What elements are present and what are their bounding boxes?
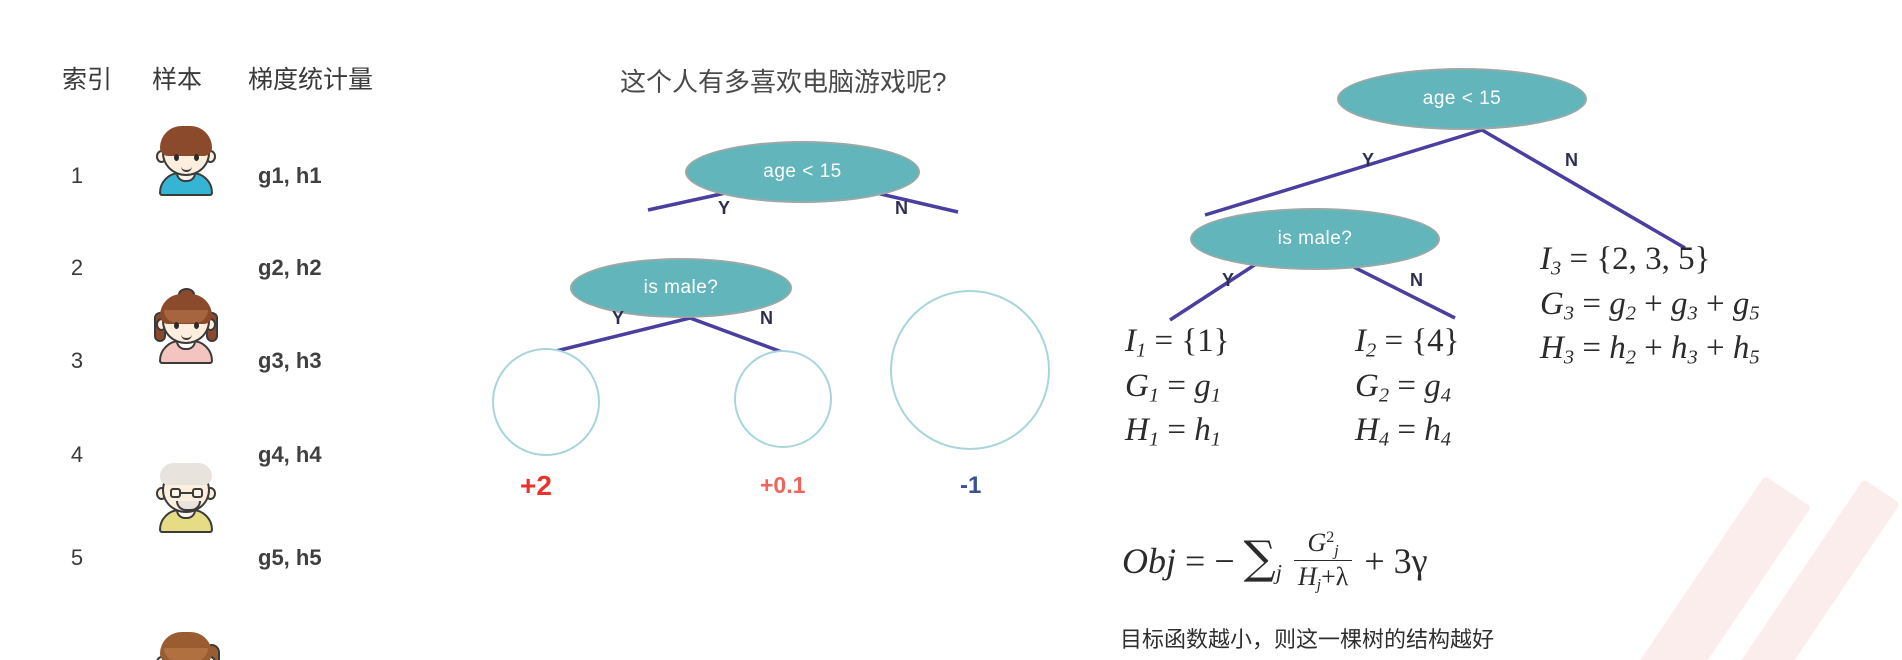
center-child-label: is male? xyxy=(644,277,719,299)
objective-numerator: G2j xyxy=(1294,528,1352,560)
formula-leaf3-I: I xyxy=(1540,241,1551,277)
formula-leaf3-I-sub: 3 xyxy=(1551,258,1561,280)
equals-sign: = xyxy=(1167,412,1186,448)
formula-leaf3-G-sub: 3 xyxy=(1564,302,1574,324)
table-header-stats: 梯度统计量 xyxy=(248,60,373,96)
formula-leaf3-H-sub: 3 xyxy=(1564,347,1574,369)
equals-sign: = xyxy=(1569,241,1588,277)
objective-num-sub: j xyxy=(1334,542,1338,559)
formula-leaf2-G: G xyxy=(1355,368,1379,404)
formula-leaf3-line3: H3 = h2 + h3 + h5 xyxy=(1540,327,1760,372)
formula-leaf1-line1: I1 = {1} xyxy=(1125,320,1230,365)
plus-sign: + xyxy=(1644,286,1663,322)
plus-sign: + xyxy=(1706,286,1725,322)
avatar-girl-braids-icon xyxy=(150,288,222,364)
center-tree-title: 这个人有多喜欢电脑游戏呢? xyxy=(620,62,946,99)
equals-sign: = xyxy=(1397,412,1416,448)
objective-den-sym: H xyxy=(1298,562,1317,591)
equals-sign: = xyxy=(1154,323,1173,359)
formula-leaf3-G-t3: g5 xyxy=(1733,286,1760,322)
right-child-yes-label: Y xyxy=(1222,270,1234,291)
formula-leaf3-line2: G3 = g2 + g3 + g5 xyxy=(1540,283,1760,328)
right-root-yes-label: Y xyxy=(1362,150,1374,171)
table-row-index: 2 xyxy=(62,255,92,281)
objective-tail: + 3γ xyxy=(1364,541,1427,581)
table-header-index: 索引 xyxy=(62,60,112,96)
avatar-old-man-glasses-icon xyxy=(150,457,222,533)
formula-leaf1-H-rhs: h xyxy=(1194,412,1211,448)
formula-leaf2-H-rhs-sub: 4 xyxy=(1441,429,1451,451)
formula-leaf1-G-rhs: g xyxy=(1194,368,1211,404)
plus-sign: + xyxy=(1706,330,1725,366)
formula-leaf3-H-t2: h3 xyxy=(1671,330,1698,366)
formula-leaf2-G-rhs: g xyxy=(1424,368,1441,404)
formula-leaf1-line2: G1 = g1 xyxy=(1125,365,1230,410)
slide-canvas: 索引 样本 梯度统计量 1 g1, h1 2 g2, h2 3 xyxy=(0,0,1902,660)
objective-sigma-sub: j xyxy=(1276,559,1282,584)
objective-den-tail: +λ xyxy=(1321,562,1348,591)
objective-lhs: Obj xyxy=(1122,541,1176,581)
right-child-no-label: N xyxy=(1410,270,1423,291)
center-leaf-2-circle xyxy=(734,350,832,448)
formula-leaf2-I-sub: 2 xyxy=(1366,340,1376,362)
formula-leaf1-H: H xyxy=(1125,412,1149,448)
right-child-node[interactable]: is male? xyxy=(1190,208,1440,270)
formula-leaf2: I2 = {4} G2 = g4 H4 = h4 xyxy=(1355,320,1460,454)
formula-leaf2-H-sub: 4 xyxy=(1379,429,1389,451)
center-leaf-1-value: +2 xyxy=(520,470,552,502)
equals-sign: = xyxy=(1397,368,1416,404)
center-child-yes-label: Y xyxy=(612,308,624,329)
equals-sign: = xyxy=(1384,323,1403,359)
center-leaf-3-circle xyxy=(890,290,1050,450)
table-row-index: 3 xyxy=(62,348,92,374)
table-row-stats: g5, h5 xyxy=(258,545,322,571)
center-root-yes-label: Y xyxy=(718,198,730,219)
table-header-sample: 样本 xyxy=(152,60,202,96)
center-child-node[interactable]: is male? xyxy=(570,258,792,318)
center-leaf-2-value: +0.1 xyxy=(760,472,805,499)
center-child-no-label: N xyxy=(760,308,773,329)
equals-sign: = xyxy=(1167,368,1186,404)
formula-leaf3-H-t1: h2 xyxy=(1609,330,1636,366)
table-row-stats: g4, h4 xyxy=(258,442,322,468)
equals-sign: = xyxy=(1582,286,1601,322)
table-row-index: 4 xyxy=(62,442,92,468)
formula-leaf2-line2: G2 = g4 xyxy=(1355,365,1460,410)
table-row-stats: g3, h3 xyxy=(258,348,322,374)
right-child-label: is male? xyxy=(1278,228,1353,250)
objective-sigma: ∑ xyxy=(1244,531,1276,584)
formula-leaf1-I: I xyxy=(1125,323,1136,359)
objective-num-sym: G xyxy=(1308,528,1327,557)
objective-equals: = xyxy=(1185,541,1205,581)
formula-leaf1: I1 = {1} G1 = g1 H1 = h1 xyxy=(1125,320,1230,454)
center-leaf-3-value: -1 xyxy=(960,472,981,500)
formula-leaf2-G-sub: 2 xyxy=(1379,384,1389,406)
formula-leaf3: I3 = {2, 3, 5} G3 = g2 + g3 + g5 H3 = h2… xyxy=(1540,238,1760,372)
center-root-no-label: N xyxy=(895,198,908,219)
equals-sign: = xyxy=(1582,330,1601,366)
table-row-index: 5 xyxy=(62,545,92,571)
right-root-no-label: N xyxy=(1565,150,1578,171)
formula-leaf3-G-t1: g2 xyxy=(1609,286,1636,322)
table-row-stats: g2, h2 xyxy=(258,255,322,281)
objective-denominator: Hj+λ xyxy=(1294,560,1352,594)
formula-leaf2-G-rhs-sub: 4 xyxy=(1441,384,1451,406)
right-root-label: age < 15 xyxy=(1423,88,1502,110)
formula-leaf2-line1: I2 = {4} xyxy=(1355,320,1460,365)
formula-leaf1-line3: H1 = h1 xyxy=(1125,409,1230,454)
formula-leaf1-H-sub: 1 xyxy=(1149,429,1159,451)
formula-leaf1-H-rhs-sub: 1 xyxy=(1211,429,1221,451)
formula-leaf2-H-rhs: h xyxy=(1424,412,1441,448)
avatar-boy-teal-shirt-icon xyxy=(150,120,222,196)
objective-caption: 目标函数越小，则这一棵树的结构越好 xyxy=(1120,622,1494,654)
center-root-node[interactable]: age < 15 xyxy=(685,141,920,203)
formula-leaf3-line1: I3 = {2, 3, 5} xyxy=(1540,238,1760,283)
objective-minus: − xyxy=(1214,541,1234,581)
formula-leaf1-I-sub: 1 xyxy=(1136,340,1146,362)
formula-objective: Obj = − ∑j G2j Hj+λ + 3γ xyxy=(1122,528,1428,595)
formula-leaf3-H-t3: h5 xyxy=(1733,330,1760,366)
formula-leaf2-H: H xyxy=(1355,412,1379,448)
formula-leaf3-G: G xyxy=(1540,286,1564,322)
formula-leaf2-I-rhs: {4} xyxy=(1411,323,1459,359)
right-root-node[interactable]: age < 15 xyxy=(1337,68,1587,130)
objective-fraction: G2j Hj+λ xyxy=(1294,528,1352,595)
formula-leaf1-G-sub: 1 xyxy=(1149,384,1159,406)
formula-leaf3-H: H xyxy=(1540,330,1564,366)
table-row-index: 1 xyxy=(62,163,92,189)
formula-leaf1-I-rhs: {1} xyxy=(1181,323,1229,359)
avatar-woman-ponytail-icon xyxy=(150,626,222,660)
plus-sign: + xyxy=(1644,330,1663,366)
center-leaf-1-circle xyxy=(492,348,600,456)
formula-leaf1-G: G xyxy=(1125,368,1149,404)
formula-leaf3-G-t2: g3 xyxy=(1671,286,1698,322)
center-root-label: age < 15 xyxy=(763,161,842,183)
table-row-stats: g1, h1 xyxy=(258,163,322,189)
formula-leaf1-G-rhs-sub: 1 xyxy=(1211,384,1221,406)
formula-leaf2-line3: H4 = h4 xyxy=(1355,409,1460,454)
formula-leaf3-I-rhs: {2, 3, 5} xyxy=(1596,241,1710,277)
formula-leaf2-I: I xyxy=(1355,323,1366,359)
